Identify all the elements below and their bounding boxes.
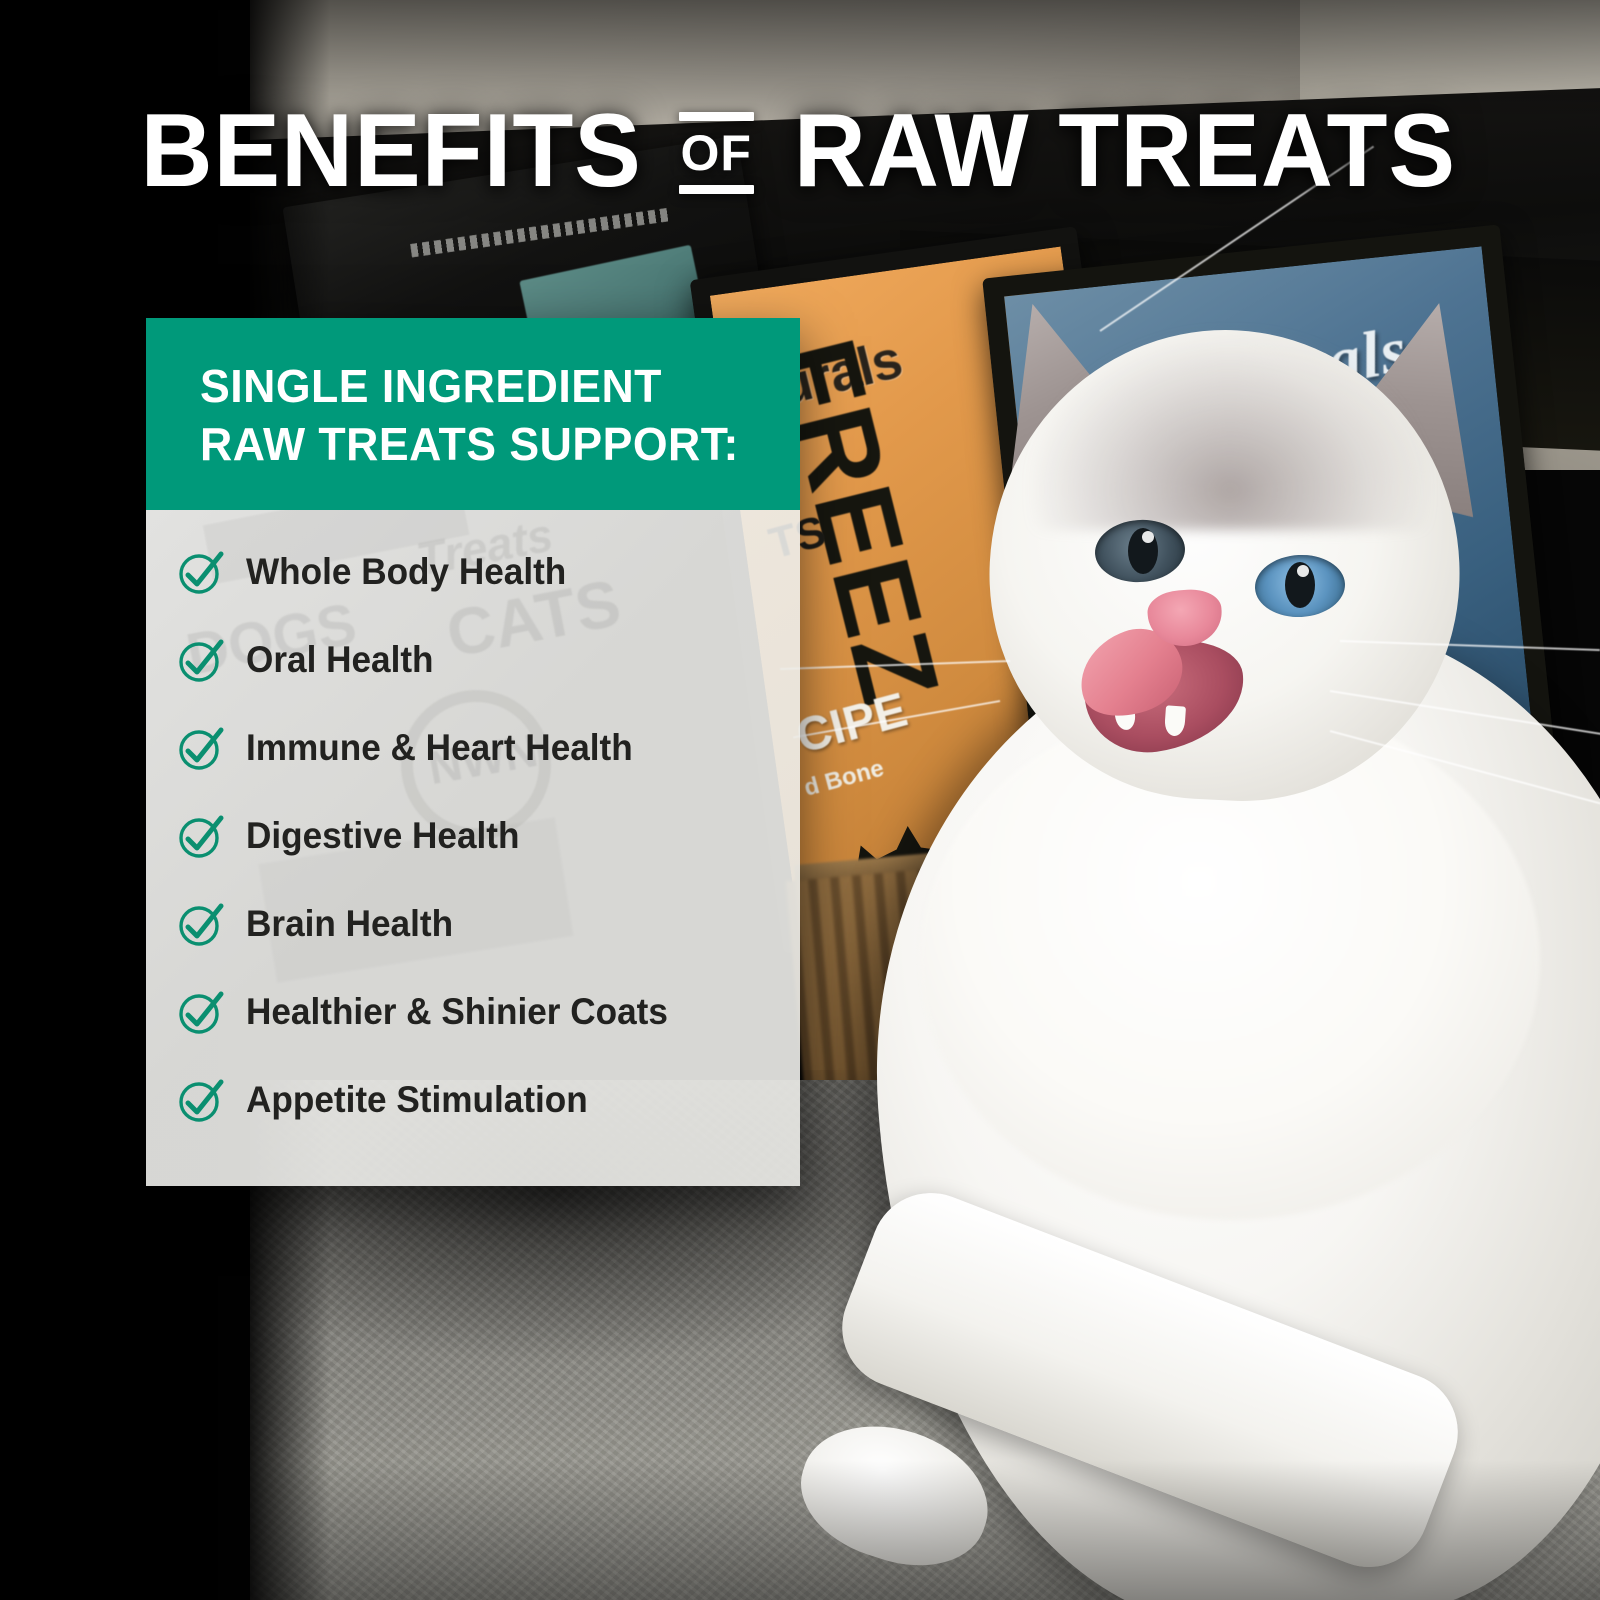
check-circle-icon (176, 900, 224, 948)
promo-graphic: aturals FREEZ TS CIPE d Bone west Natura… (0, 0, 1600, 1600)
title-word-of: OF (679, 121, 754, 185)
benefit-label: Digestive Health (246, 817, 519, 854)
list-item: Brain Health (176, 900, 770, 948)
cat-head-marking (1030, 330, 1430, 530)
benefits-heading-line2: RAW TREATS SUPPORT: (200, 416, 747, 474)
list-item: Oral Health (176, 636, 770, 684)
check-circle-icon (176, 548, 224, 596)
benefit-label: Whole Body Health (246, 553, 566, 590)
cat-eye-glint-left (1142, 531, 1154, 543)
orange-bag-recipe: CIPE (792, 686, 913, 761)
cat-eye-glint-right (1297, 565, 1309, 577)
benefits-heading-line1: SINGLE INGREDIENT (200, 358, 747, 416)
check-circle-icon (176, 988, 224, 1036)
benefits-list: Whole Body Health Oral Health Immune & H… (176, 548, 770, 1124)
title-rule-bottom (679, 185, 754, 194)
title-connector-group: OF (679, 112, 754, 198)
title-word-raw-treats: RAW TREATS (794, 99, 1456, 203)
title-rule-top (679, 112, 754, 121)
benefit-label: Appetite Stimulation (246, 1081, 588, 1118)
benefit-label: Immune & Heart Health (246, 729, 633, 766)
bottom-vignette (0, 1460, 1600, 1600)
benefit-label: Healthier & Shinier Coats (246, 993, 668, 1030)
black-bag-text (410, 208, 669, 258)
page-title: BENEFITS OF RAW TREATS (0, 96, 1600, 206)
list-item: Healthier & Shinier Coats (176, 988, 770, 1036)
benefits-card-header: SINGLE INGREDIENT RAW TREATS SUPPORT: (146, 318, 800, 510)
benefits-card: SINGLE INGREDIENT RAW TREATS SUPPORT: Tr… (146, 318, 800, 1186)
check-circle-icon (176, 724, 224, 772)
list-item: Digestive Health (176, 812, 770, 860)
benefit-label: Oral Health (246, 641, 434, 678)
list-item: Immune & Heart Health (176, 724, 770, 772)
list-item: Whole Body Health (176, 548, 770, 596)
orange-bag-sub: d Bone (802, 757, 887, 801)
benefits-card-body: Treats DOGS CATS NWN Whole Body Health O… (146, 510, 800, 1186)
check-circle-icon (176, 812, 224, 860)
title-word-benefits: BENEFITS (141, 99, 642, 203)
check-circle-icon (176, 636, 224, 684)
benefit-label: Brain Health (246, 905, 453, 942)
check-circle-icon (176, 1076, 224, 1124)
list-item: Appetite Stimulation (176, 1076, 770, 1124)
